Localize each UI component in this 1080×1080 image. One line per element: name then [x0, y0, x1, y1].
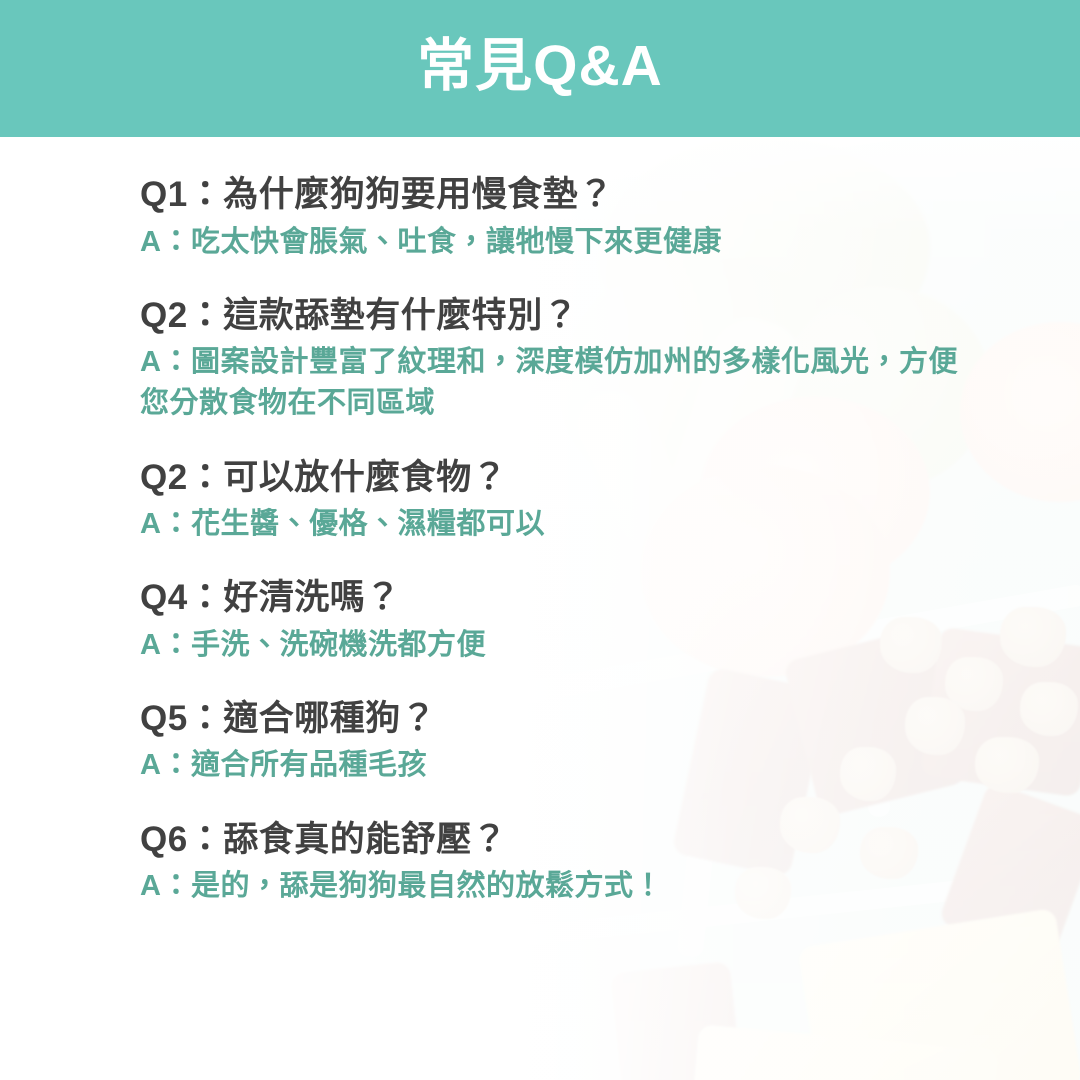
qa-answer: A：是的，舔是狗狗最自然的放鬆方式！ — [140, 866, 960, 907]
qa-question: Q2：這款舔墊有什麼特別？ — [140, 293, 960, 339]
qa-answer: A：適合所有品種毛孩 — [140, 745, 960, 786]
qa-answer: A：圖案設計豐富了紋理和，深度模仿加州的多樣化風光，方便您分散食物在不同區域 — [140, 342, 960, 424]
qa-item: Q6：舔食真的能舒壓？ A：是的，舔是狗狗最自然的放鬆方式！ — [140, 817, 960, 908]
qa-poster: 常見Q&A Q1：為什麼狗狗要用慢食墊？ A：吃太快會脹氣、吐食，讓牠慢下來更健… — [0, 0, 1080, 1080]
qa-item: Q4：好清洗嗎？ A：手洗、洗碗機洗都方便 — [140, 575, 960, 666]
header-band: 常見Q&A — [0, 0, 1080, 137]
page-title: 常見Q&A — [417, 38, 663, 99]
qa-item: Q1：為什麼狗狗要用慢食墊？ A：吃太快會脹氣、吐食，讓牠慢下來更健康 — [140, 172, 960, 263]
qa-question: Q1：為什麼狗狗要用慢食墊？ — [140, 172, 960, 218]
qa-answer: A：手洗、洗碗機洗都方便 — [140, 625, 960, 666]
qa-question: Q4：好清洗嗎？ — [140, 575, 960, 621]
qa-question: Q6：舔食真的能舒壓？ — [140, 817, 960, 863]
qa-item: Q2：這款舔墊有什麼特別？ A：圖案設計豐富了紋理和，深度模仿加州的多樣化風光，… — [140, 293, 960, 425]
qa-item: Q5：適合哪種狗？ A：適合所有品種毛孩 — [140, 696, 960, 787]
qa-answer: A：花生醬、優格、濕糧都可以 — [140, 504, 960, 545]
qa-question: Q2：可以放什麼食物？ — [140, 455, 960, 501]
qa-answer: A：吃太快會脹氣、吐食，讓牠慢下來更健康 — [140, 222, 960, 263]
qa-question: Q5：適合哪種狗？ — [140, 696, 960, 742]
qa-item: Q2：可以放什麼食物？ A：花生醬、優格、濕糧都可以 — [140, 455, 960, 546]
qa-list: Q1：為什麼狗狗要用慢食墊？ A：吃太快會脹氣、吐食，讓牠慢下來更健康 Q2：這… — [140, 172, 960, 907]
